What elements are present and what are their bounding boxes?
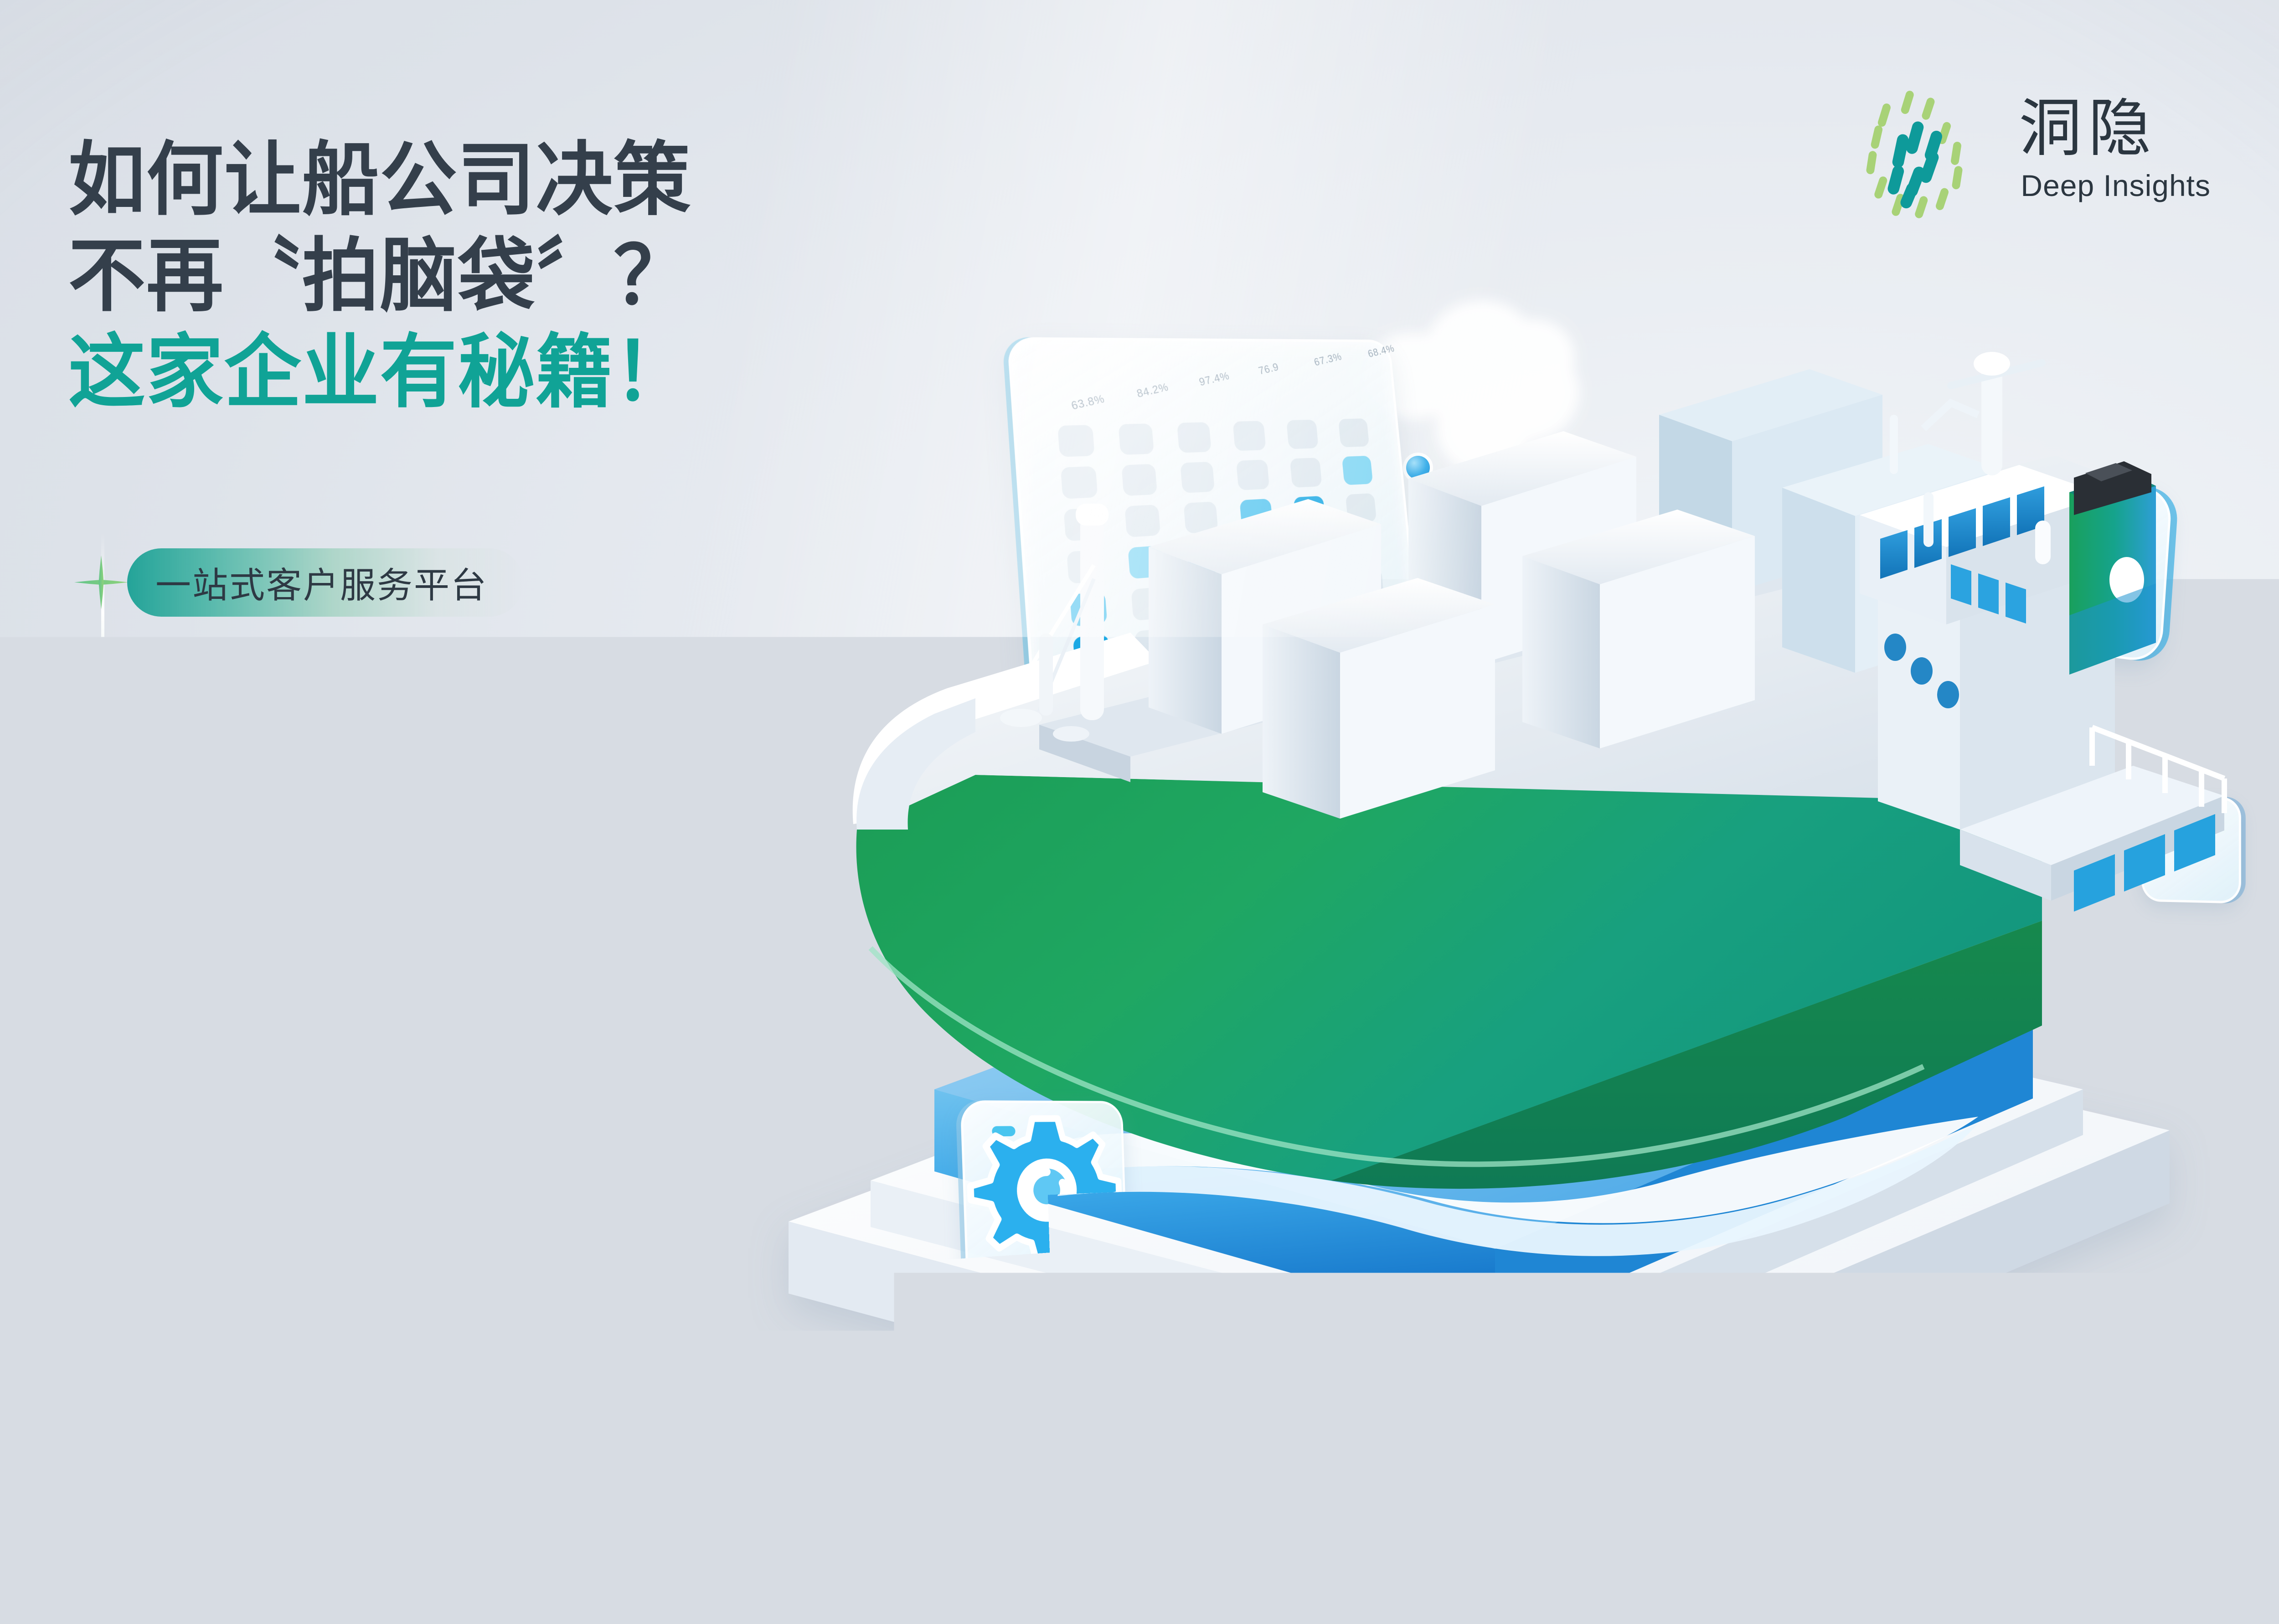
gear-icon: [960, 1100, 1128, 1283]
feature-label: 一站式客户服务平台: [155, 557, 488, 608]
cta-badge-label: 洞隐: [112, 1356, 196, 1411]
list-item[interactable]: AI驱动调箱算法: [68, 972, 523, 1057]
feature-label: AI辅助航线优化: [155, 773, 413, 824]
feature-pill[interactable]: 供应链可视化平台: [127, 656, 486, 725]
hotline-block[interactable]: 点击了解更多，咨询热线：400-107-7860: [67, 1490, 912, 1559]
sparkles-icon: [67, 1490, 137, 1559]
dashed-circle-logo-icon: [2078, 1421, 2131, 1475]
list-item[interactable]: AI辅助航线优化: [68, 756, 523, 840]
brand-logo: 洞隐 Deep Insights: [1859, 80, 2211, 219]
feature-pill[interactable]: AI助力客服体系: [127, 1088, 449, 1157]
poster-canvas: 63.8% 84.2% 97.4% 76.9 67.3% 68.4%: [0, 0, 2279, 1624]
feature-pill[interactable]: AI驱动调箱算法: [127, 980, 449, 1049]
qr-code-icon[interactable]: [1995, 1339, 2213, 1557]
feature-list: 一站式客户服务平台 供应链可视化平台 AI辅助航线优化 AI辅助危险品审批 AI: [68, 540, 523, 1165]
list-item[interactable]: 供应链可视化平台: [68, 648, 523, 732]
four-point-star-icon: [67, 980, 135, 1049]
dashed-circle-logo-icon: [1859, 80, 1998, 219]
headline-block: 如何让船公司决策 不再〝拍脑袋〞？ 这家企业有秘籍！: [68, 132, 717, 421]
brand-name-cn: 洞隐: [2019, 96, 2157, 162]
four-point-star-icon: [67, 1088, 135, 1157]
play-triangle-icon: ▸: [654, 1370, 669, 1395]
headline-line-3: 这家企业有秘籍！: [68, 325, 691, 421]
feature-label: 供应链可视化平台: [155, 665, 451, 716]
hotline-text: 点击了解更多，咨询热线：400-107-7860: [153, 1496, 912, 1553]
headline-line-1: 如何让船公司决策: [68, 132, 691, 228]
cta-button-label-wrap: 智能航运管理平台 ▸: [304, 1354, 669, 1412]
four-point-star-icon: [67, 656, 135, 725]
list-item[interactable]: AI助力客服体系: [68, 1080, 523, 1165]
feature-label: AI辅助危险品审批: [155, 881, 450, 932]
cta-button[interactable]: 智能航运管理平台 ▸: [158, 1329, 747, 1436]
qr-matrix: [2007, 1351, 2202, 1545]
brand-text: 洞隐 Deep Insights: [2019, 96, 2211, 203]
cta-brand-badge: 洞隐: [68, 1324, 223, 1443]
list-item[interactable]: AI辅助危险品审批: [68, 864, 523, 949]
feature-label: AI驱动调箱算法: [155, 989, 413, 1040]
four-point-star-icon: [67, 872, 135, 941]
feature-pill[interactable]: AI辅助航线优化: [127, 764, 449, 833]
feature-pill[interactable]: AI辅助危险品审批: [127, 872, 486, 941]
headline-line-2: 不再〝拍脑袋〞？: [68, 228, 691, 325]
list-item[interactable]: 一站式客户服务平台: [68, 540, 523, 624]
feature-label: AI助力客服体系: [155, 1097, 413, 1148]
four-point-star-icon: [67, 548, 135, 617]
four-point-star-icon: [67, 764, 135, 833]
brand-name-en: Deep Insights: [2021, 168, 2211, 203]
cta-button-label: 智能航运管理平台: [304, 1354, 646, 1412]
feature-pill[interactable]: 一站式客户服务平台: [127, 548, 523, 617]
